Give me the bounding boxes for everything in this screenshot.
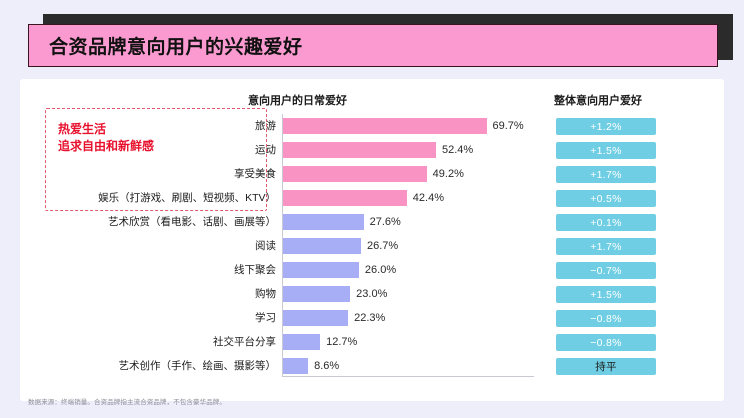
chart-section-title: 意向用户的日常爱好	[248, 92, 347, 108]
header-banner: 合资品牌意向用户的兴趣爱好	[0, 0, 744, 78]
annotation-line-2: 追求自由和新鲜感	[58, 138, 154, 155]
page-title: 合资品牌意向用户的兴趣爱好	[49, 32, 303, 59]
overall-preference-badge: +1.7%	[556, 166, 656, 183]
annotation-line-1: 热爱生活	[58, 121, 154, 138]
highlight-annotation-text: 热爱生活 追求自由和新鲜感	[58, 121, 154, 155]
overall-preference-badge: +1.2%	[556, 118, 656, 135]
source-note: 数据来源：终端销量。合资品牌指主流合资品牌，不包含豪华品牌。	[28, 396, 226, 406]
overall-preference-badge: +0.1%	[556, 214, 656, 231]
banner-box: 合资品牌意向用户的兴趣爱好	[28, 24, 718, 67]
overall-preference-badge: −0.8%	[556, 334, 656, 351]
overall-preference-badge: +0.5%	[556, 190, 656, 207]
overall-preference-badge: +1.5%	[556, 286, 656, 303]
overall-preference-badge: −0.7%	[556, 262, 656, 279]
slide-root: 合资品牌意向用户的兴趣爱好 意向用户的日常爱好 整体意向用户爱好 旅游69.7%…	[0, 0, 744, 418]
overall-preference-badge: 持平	[556, 358, 656, 375]
badge-section-title: 整体意向用户爱好	[554, 92, 642, 108]
overall-preference-badge: −0.8%	[556, 310, 656, 327]
overall-preference-badge: +1.7%	[556, 238, 656, 255]
overall-preference-badge: +1.5%	[556, 142, 656, 159]
